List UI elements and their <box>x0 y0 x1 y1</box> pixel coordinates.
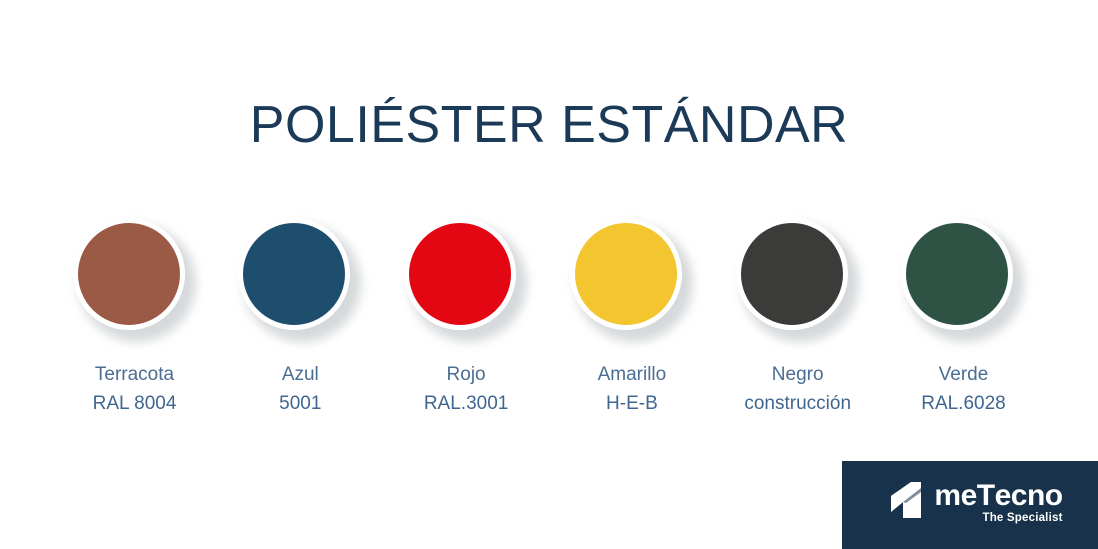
swatch-label-negro: Negro construcción <box>744 360 851 419</box>
disc-fill-negro <box>736 218 848 330</box>
brand-logo-panel: meTecno The Specialist <box>842 461 1098 549</box>
swatch-name-line-1: Rojo <box>424 360 509 389</box>
swatch-name-line-1: Terracota <box>93 360 177 389</box>
swatch-label-azul: Azul 5001 <box>279 360 321 419</box>
logo-wordmark: meTecno <box>934 482 1062 511</box>
swatch-name-line-2: construcción <box>744 389 851 418</box>
color-disc-icon[interactable] <box>238 218 362 342</box>
swatch-name-line-2: RAL.3001 <box>424 389 509 418</box>
swatch-label-terracota: Terracota RAL 8004 <box>93 360 177 419</box>
swatch-name-line-2: RAL 8004 <box>93 389 177 418</box>
swatch-name-line-1: Verde <box>921 360 1006 389</box>
swatch-name-line-1: Negro <box>744 360 851 389</box>
disc-fill-terracota <box>73 218 185 330</box>
swatch-name-line-1: Azul <box>279 360 321 389</box>
swatch-label-rojo: Rojo RAL.3001 <box>424 360 509 419</box>
page-title: POLIÉSTER ESTÁNDAR <box>0 96 1098 156</box>
color-swatch-row: Terracota RAL 8004 Azul 5001 Rojo RAL.30… <box>52 218 1046 419</box>
swatch-name-line-2: RAL.6028 <box>921 389 1006 418</box>
logo-wordmark-cap: T <box>977 482 995 511</box>
logo-text-block: meTecno The Specialist <box>934 482 1062 524</box>
swatch-negro[interactable]: Negro construcción <box>715 218 880 419</box>
logo-tagline: The Specialist <box>982 513 1062 525</box>
swatch-name-line-1: Amarillo <box>598 360 667 389</box>
logo-wordmark-prefix: me <box>934 479 976 512</box>
swatch-label-verde: Verde RAL.6028 <box>921 360 1006 419</box>
swatch-name-line-2: 5001 <box>279 389 321 418</box>
color-disc-icon[interactable] <box>736 218 860 342</box>
swatch-name-line-2: H-E-B <box>598 389 667 418</box>
color-disc-icon[interactable] <box>901 218 1025 342</box>
swatch-amarillo[interactable]: Amarillo H-E-B <box>549 218 714 419</box>
swatch-verde[interactable]: Verde RAL.6028 <box>881 218 1046 419</box>
disc-fill-azul <box>238 218 350 330</box>
logo-wordmark-suffix: ecno <box>995 479 1063 512</box>
color-disc-icon[interactable] <box>404 218 528 342</box>
disc-fill-rojo <box>404 218 516 330</box>
disc-fill-amarillo <box>570 218 682 330</box>
swatch-rojo[interactable]: Rojo RAL.3001 <box>384 218 549 419</box>
slide-canvas: POLIÉSTER ESTÁNDAR Terracota RAL 8004 Az… <box>0 0 1098 549</box>
disc-fill-verde <box>901 218 1013 330</box>
brand-logo: meTecno The Specialist <box>889 482 1062 524</box>
swatch-label-amarillo: Amarillo H-E-B <box>598 360 667 419</box>
color-disc-icon[interactable] <box>73 218 197 342</box>
color-disc-icon[interactable] <box>570 218 694 342</box>
swatch-terracota[interactable]: Terracota RAL 8004 <box>52 218 217 419</box>
swatch-azul[interactable]: Azul 5001 <box>218 218 383 419</box>
metecno-house-mark-icon <box>889 482 929 518</box>
